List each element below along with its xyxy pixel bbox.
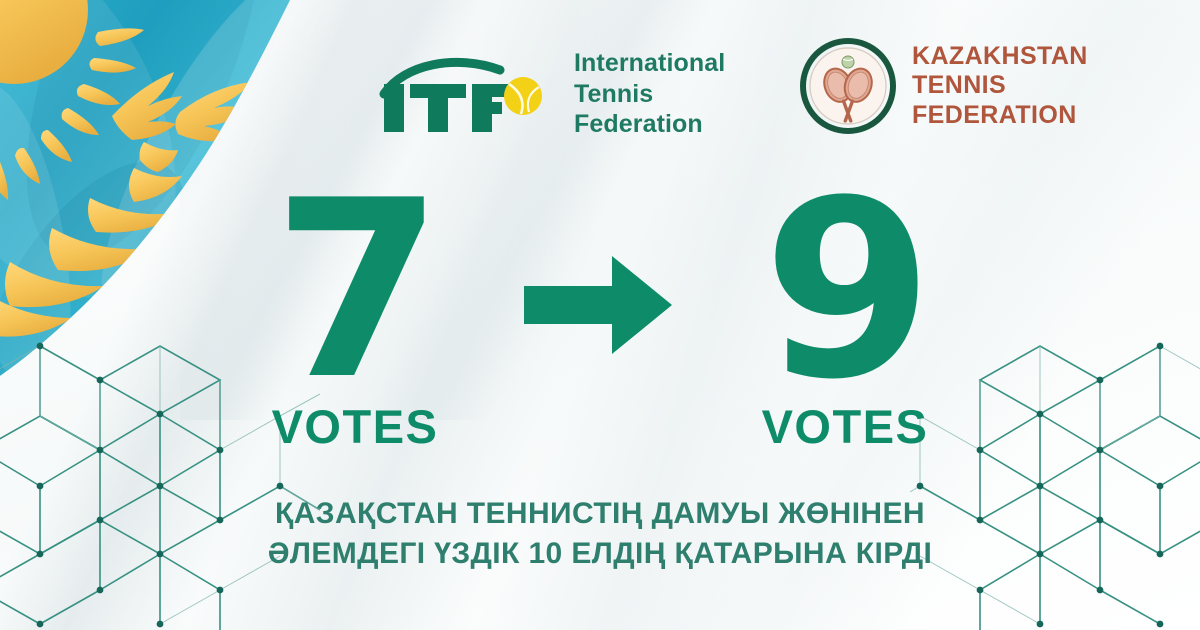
- tennis-ball-icon: [503, 76, 543, 116]
- itf-line-1: International: [574, 48, 725, 79]
- banner-canvas: ® International Tennis Federation: [0, 0, 1200, 630]
- logo-row: ® International Tennis Federation: [0, 26, 1200, 136]
- ktf-line-2: TENNIS: [912, 71, 1088, 101]
- ktf-line-3: FEDERATION: [912, 101, 1088, 131]
- crossed-rackets-circle-icon: [800, 38, 896, 134]
- votes-after-label: VOTES: [762, 399, 929, 454]
- votes-after-number: 9: [763, 178, 927, 403]
- kazakhstan-tennis-federation-logo: KAZAKHSTAN TENNIS FEDERATION: [800, 38, 1088, 134]
- votes-after: 9 VOTES: [695, 178, 995, 454]
- arrow-right-icon: [505, 178, 695, 360]
- headline: ҚАЗАҚСТАН ТЕННИСТІҢ ДАМУЫ ЖӨНІНЕН ӘЛЕМДЕ…: [0, 494, 1200, 574]
- votes-before: 7 VOTES: [205, 178, 505, 454]
- votes-comparison: 7 VOTES 9 VOTES: [0, 178, 1200, 468]
- itf-wordmark: International Tennis Federation: [574, 48, 725, 140]
- itf-line-2: Tennis: [574, 79, 725, 110]
- itf-logo: ® International Tennis Federation: [378, 48, 725, 140]
- ktf-line-1: KAZAKHSTAN: [912, 42, 1088, 72]
- votes-before-number: 7: [273, 178, 437, 403]
- headline-line-2: ӘЛЕМДЕГІ ҮЗДІК 10 ЕЛДІҢ ҚАТАРЫНА КІРДІ: [0, 534, 1200, 574]
- itf-line-3: Federation: [574, 109, 725, 140]
- headline-line-1: ҚАЗАҚСТАН ТЕННИСТІҢ ДАМУЫ ЖӨНІНЕН: [0, 494, 1200, 534]
- ktf-wordmark: KAZAKHSTAN TENNIS FEDERATION: [912, 42, 1088, 131]
- votes-before-label: VOTES: [272, 399, 439, 454]
